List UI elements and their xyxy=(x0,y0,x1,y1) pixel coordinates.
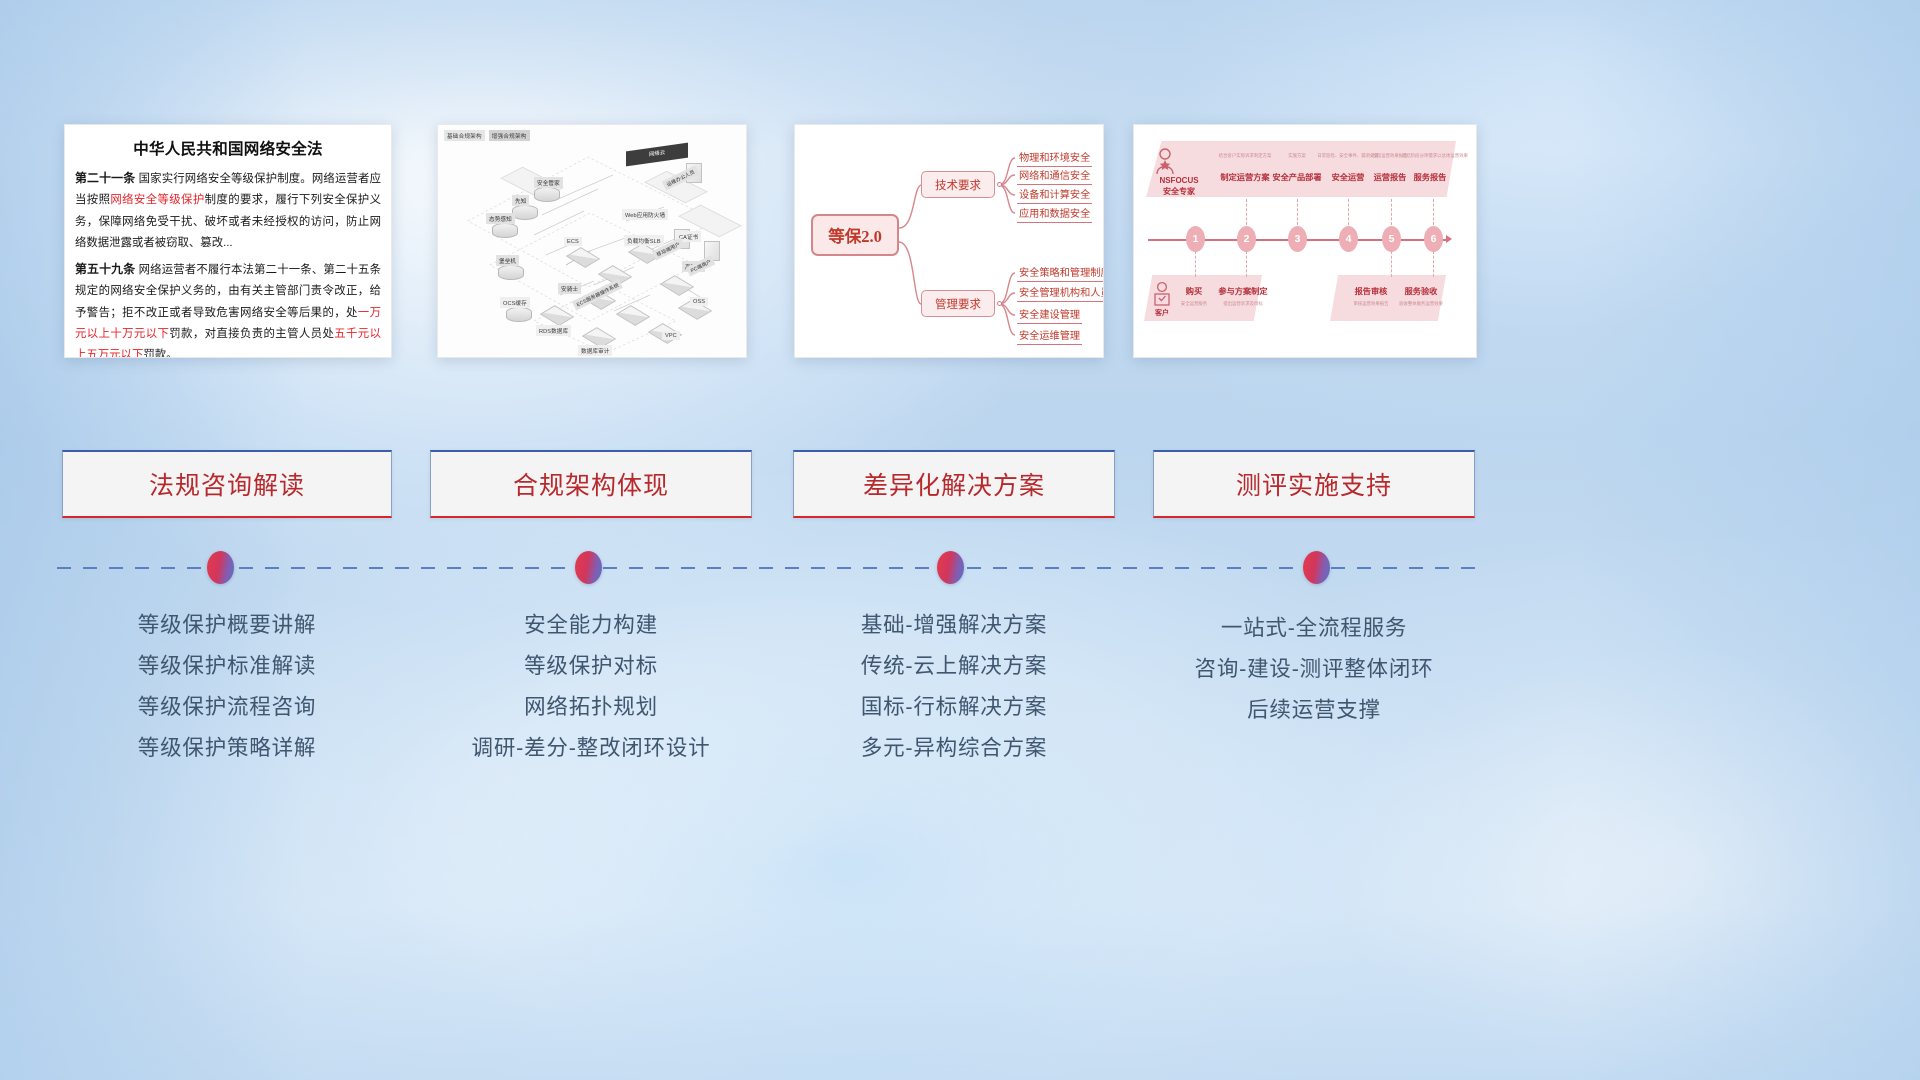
architecture-node-ecs: ECS xyxy=(564,237,582,246)
mindmap-leaf-app-data: 应用和数据安全 xyxy=(1017,205,1092,223)
mindmap-root-node: 等保2.0 xyxy=(811,214,899,256)
list-column-2: 安全能力构建 等级保护对标 网络拓扑规划 调研-差分-整改闭环设计 xyxy=(430,605,752,769)
customer-person-icon xyxy=(1152,281,1172,307)
architecture-disk-2 xyxy=(512,205,538,220)
mindmap-branch-management: 管理要求 xyxy=(921,290,995,317)
label-box-evaluation-support[interactable]: 测评实施支持 xyxy=(1153,450,1475,518)
nsfocus-step-6[interactable]: 6 xyxy=(1424,226,1443,252)
timeline-dot-1[interactable] xyxy=(207,551,234,584)
architecture-node-slb: 负载均衡SLB xyxy=(624,235,664,246)
nsfocus-step-2[interactable]: 2 xyxy=(1237,226,1256,252)
list-column-3: 基础-增强解决方案 传统-云上解决方案 国标-行标解决方案 多元-异构综合方案 xyxy=(793,605,1115,769)
label-box-1-text: 法规咨询解读 xyxy=(149,466,305,502)
architecture-node-security-butler: 安全管家 xyxy=(534,177,563,188)
expert-person-icon xyxy=(1154,147,1176,175)
card-architecture-diagram[interactable]: 基础合规架构 增强合规架构 xyxy=(437,124,747,358)
nsfocus-dash-5 xyxy=(1391,199,1392,225)
nsfocus-dash-b2 xyxy=(1246,251,1247,277)
nsfocus-step-3[interactable]: 3 xyxy=(1288,226,1307,252)
nsfocus-bot-title-1: 购买 xyxy=(1172,285,1216,297)
nsfocus-bot-title-2: 参与方案制定 xyxy=(1214,285,1272,297)
nsfocus-dash-b4 xyxy=(1433,251,1434,277)
label-box-differentiated-solution[interactable]: 差异化解决方案 xyxy=(793,450,1115,518)
mindmap-branch-technical: 技术要求 xyxy=(921,171,995,198)
law-article-59-text-mid: 罚款，对直接负责的主管人员处 xyxy=(169,328,334,340)
mindmap-leaf-device-compute: 设备和计算安全 xyxy=(1017,186,1092,204)
architecture-disk-4 xyxy=(498,265,524,280)
architecture-node-db-audit: 数据库审计 xyxy=(578,345,612,356)
nsfocus-step-5[interactable]: 5 xyxy=(1382,226,1401,252)
list-item: 等级保护对标 xyxy=(430,646,752,687)
list-item: 后续运营支撑 xyxy=(1153,690,1475,731)
architecture-node-situation: 态势感知 xyxy=(486,213,515,224)
nsfocus-customer-band-right xyxy=(1330,275,1446,321)
nsfocus-customer-role-label: 客户 xyxy=(1150,309,1174,319)
law-article-21-highlight: 网络安全等级保护 xyxy=(110,194,204,206)
timeline-dot-2[interactable] xyxy=(575,551,602,584)
label-box-4-text: 测评实施支持 xyxy=(1236,466,1392,502)
card-mindmap[interactable]: 等保2.0 技术要求 物理和环境安全 网络和通信安全 设备和计算安全 应用和数据… xyxy=(794,124,1104,358)
list-item: 网络拓扑规划 xyxy=(430,687,752,728)
law-article-21-label: 第二十一条 xyxy=(75,171,135,185)
architecture-node-ocs-cache: OCS缓存 xyxy=(500,297,530,308)
architecture-node-rds: RDS数据库 xyxy=(536,325,571,336)
nsfocus-bot-sub-2: 提出运营诉求及目标 xyxy=(1214,301,1272,307)
timeline-dashed-line xyxy=(57,567,1476,569)
architecture-node-bastion: 堡垒机 xyxy=(496,255,519,266)
nsfocus-bot-title-3: 报告审核 xyxy=(1346,285,1396,297)
mindmap-leaf-network-comm: 网络和通信安全 xyxy=(1017,167,1092,185)
nsfocus-bot-sub-1: 安全运营服务 xyxy=(1172,301,1216,307)
law-title: 中华人民共和国网络安全法 xyxy=(65,125,391,168)
nsfocus-canvas: NSFOCUS 安全专家 客户 1 2 3 4 5 6 结 xyxy=(1134,125,1476,357)
nsfocus-dash-6 xyxy=(1433,199,1434,225)
nsfocus-timeline-arrow-icon xyxy=(1446,235,1452,243)
architecture-node-oss: OSS xyxy=(690,297,708,306)
nsfocus-expert-role-label: NSFOCUS 安全专家 xyxy=(1148,175,1210,197)
mindmap-leaf-physical-env: 物理和环境安全 xyxy=(1017,149,1092,167)
timeline-dot-4[interactable] xyxy=(1303,551,1330,584)
list-item: 国标-行标解决方案 xyxy=(793,687,1115,728)
mindmap-leaf-construction: 安全建设管理 xyxy=(1017,306,1082,324)
nsfocus-bot-title-4: 服务验收 xyxy=(1396,285,1446,297)
list-column-1: 等级保护概要讲解 等级保护标准解读 等级保护流程咨询 等级保护策略详解 xyxy=(62,605,392,769)
nsfocus-bot-sub-4: 验收整体服务运营效果 xyxy=(1396,301,1446,307)
nsfocus-top-title-5: 服务报告 xyxy=(1402,171,1458,183)
nsfocus-dash-4 xyxy=(1348,199,1349,225)
timeline-dot-3[interactable] xyxy=(937,551,964,584)
card-law-document[interactable]: 中华人民共和国网络安全法 第二十一条 国家实行网络安全等级保护制度。网络运营者应… xyxy=(64,124,392,358)
architecture-node-anqishi: 安骑士 xyxy=(558,283,581,294)
nsfocus-step-4[interactable]: 4 xyxy=(1339,226,1358,252)
nsfocus-top-sub-5: 总结阶段分项需求以总体运营效果 xyxy=(1402,153,1458,159)
law-paragraph-21: 第二十一条 国家实行网络安全等级保护制度。网络运营者应当按照网络安全等级保护制度… xyxy=(75,168,381,254)
nsfocus-dash-3 xyxy=(1297,199,1298,225)
label-box-compliance-architecture[interactable]: 合规架构体现 xyxy=(430,450,752,518)
nsfocus-bot-sub-3: 审核运营效果报告 xyxy=(1346,301,1396,307)
list-item: 多元-异构综合方案 xyxy=(793,728,1115,769)
list-item: 咨询-建设-测评整体闭环 xyxy=(1153,649,1475,690)
law-body: 第二十一条 国家实行网络安全等级保护制度。网络运营者应当按照网络安全等级保护制度… xyxy=(65,168,391,358)
mindmap-leaf-org-personnel: 安全管理机构和人员 xyxy=(1017,284,1104,302)
architecture-node-xianzhi: 先知 xyxy=(512,195,529,206)
mindmap-leaf-policy-system: 安全策略和管理制度 xyxy=(1017,264,1104,282)
list-item: 传统-云上解决方案 xyxy=(793,646,1115,687)
architecture-disk-3 xyxy=(492,223,518,238)
list-column-4: 一站式-全流程服务 咨询-建设-测评整体闭环 后续运营支撑 xyxy=(1153,608,1475,731)
label-box-3-text: 差异化解决方案 xyxy=(863,466,1045,502)
label-box-regulation-consulting[interactable]: 法规咨询解读 xyxy=(62,450,392,518)
nsfocus-dash-b1 xyxy=(1195,251,1196,277)
list-item: 基础-增强解决方案 xyxy=(793,605,1115,646)
architecture-disk-5 xyxy=(506,307,532,322)
law-article-59-label: 第五十九条 xyxy=(75,262,135,276)
list-item: 一站式-全流程服务 xyxy=(1153,608,1475,649)
architecture-canvas: 基础合规架构 增强合规架构 xyxy=(438,125,746,357)
architecture-disk-1 xyxy=(534,187,560,202)
mindmap-leaf-operations: 安全运维管理 xyxy=(1017,327,1082,345)
list-item: 等级保护概要讲解 xyxy=(62,605,392,646)
card-nsfocus-timeline[interactable]: NSFOCUS 安全专家 客户 1 2 3 4 5 6 结 xyxy=(1133,124,1477,358)
law-paragraph-59: 第五十九条 网络运营者不履行本法第二十一条、第二十五条规定的网络安全保护义务的，… xyxy=(75,259,381,358)
list-item: 等级保护流程咨询 xyxy=(62,687,392,728)
label-box-2-text: 合规架构体现 xyxy=(513,466,669,502)
architecture-node-waf: Web应用防火墙 xyxy=(622,209,668,220)
list-item: 安全能力构建 xyxy=(430,605,752,646)
nsfocus-step-1[interactable]: 1 xyxy=(1186,226,1205,252)
mindmap-canvas: 等保2.0 技术要求 物理和环境安全 网络和通信安全 设备和计算安全 应用和数据… xyxy=(795,125,1103,357)
law-article-59-text-end: 罚款。 xyxy=(143,349,177,358)
architecture-node-vpc: VPC xyxy=(662,331,680,340)
list-item: 等级保护策略详解 xyxy=(62,728,392,769)
list-item: 调研-差分-整改闭环设计 xyxy=(430,728,752,769)
nsfocus-dash-b3 xyxy=(1391,251,1392,277)
nsfocus-dash-2 xyxy=(1246,199,1247,225)
mindmap-collapse-icon-technical[interactable] xyxy=(997,182,1002,187)
mindmap-collapse-icon-management[interactable] xyxy=(997,301,1002,306)
list-item: 等级保护标准解读 xyxy=(62,646,392,687)
